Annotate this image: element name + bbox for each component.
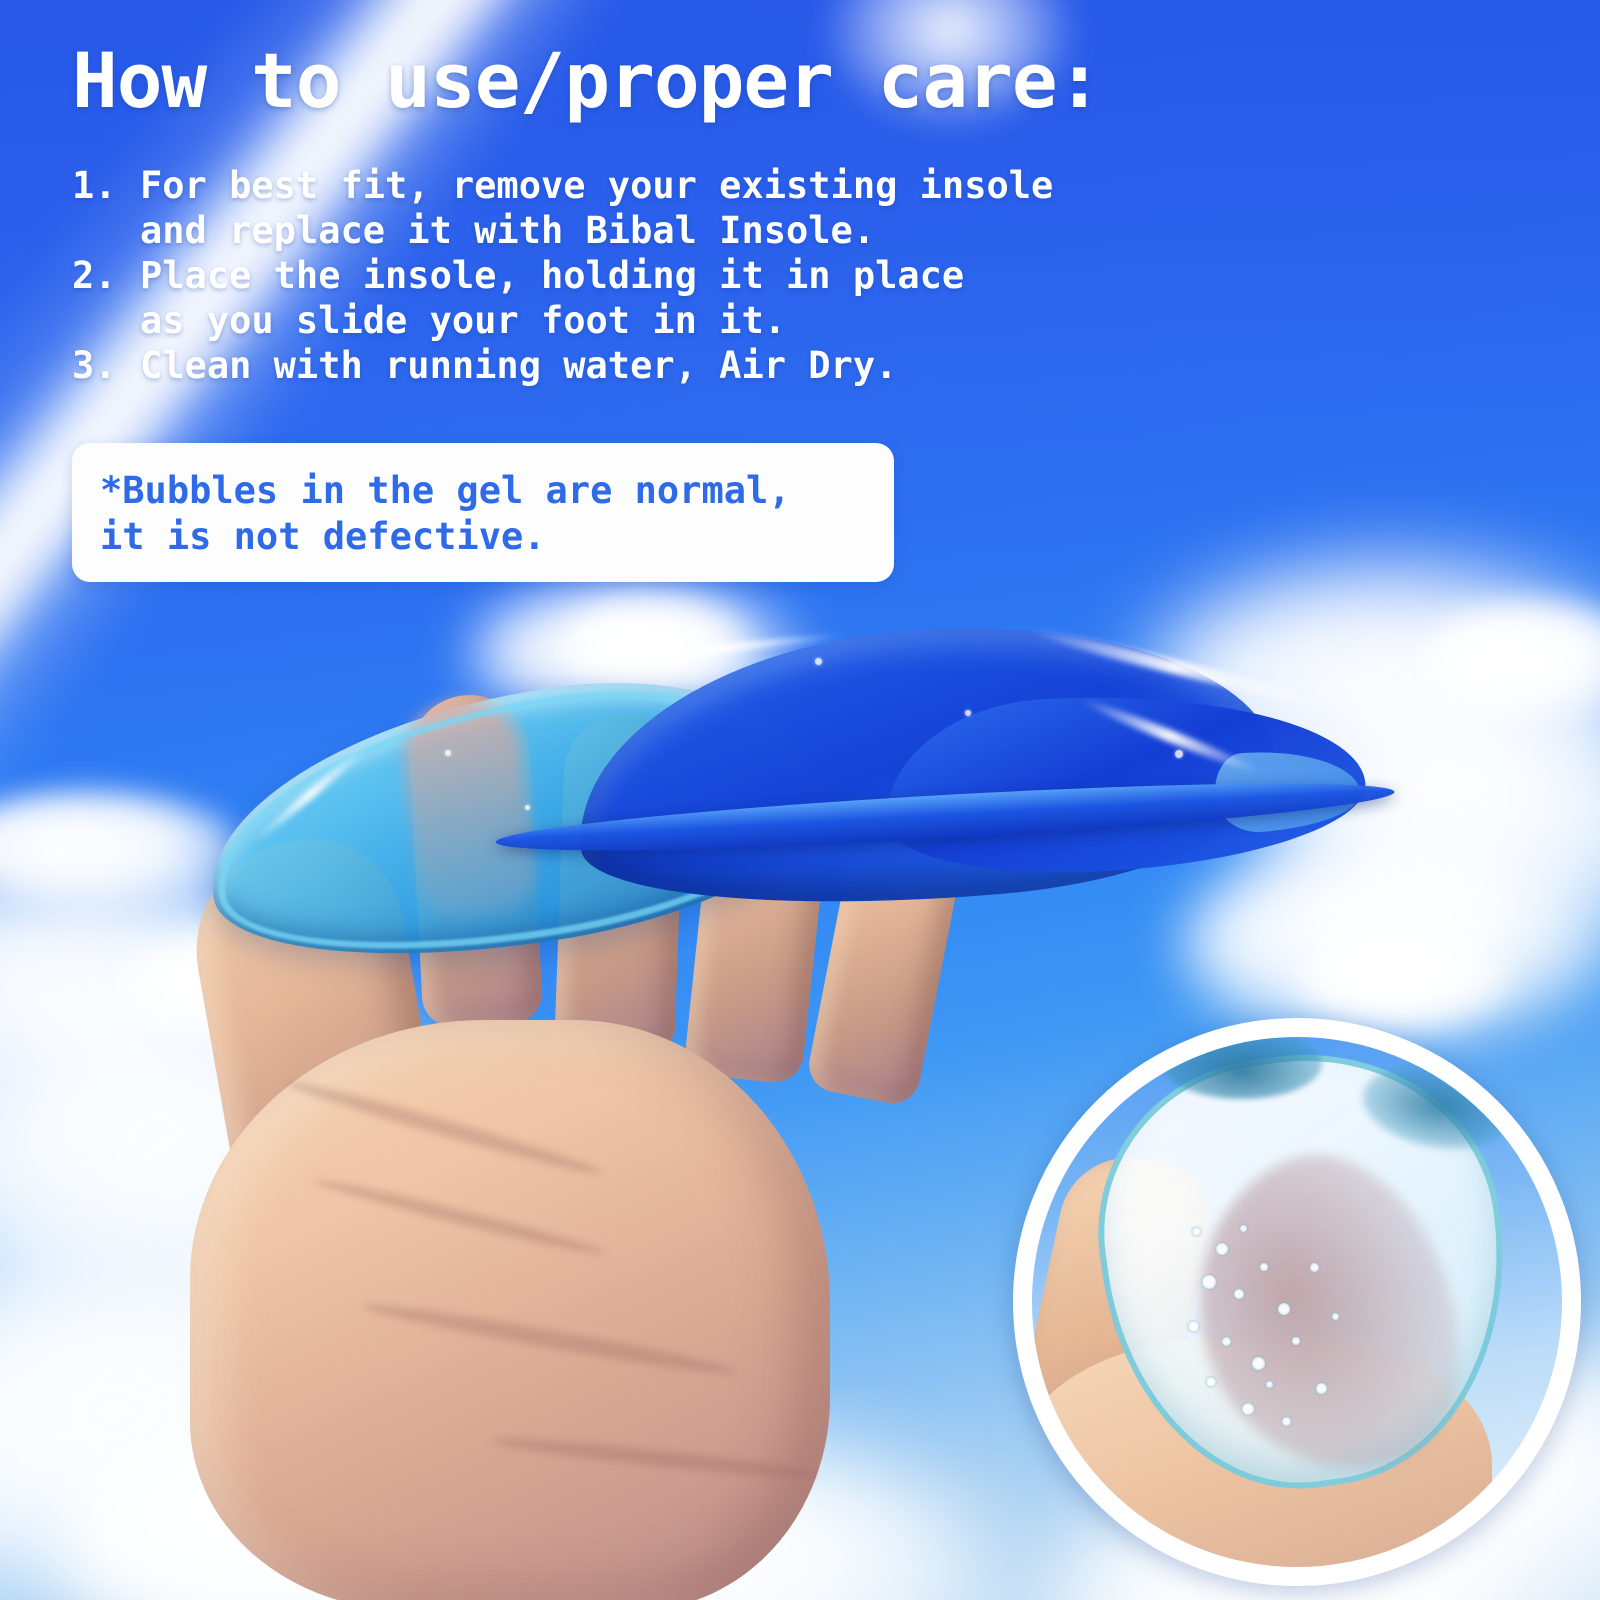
bubbles-note-callout: *Bubbles in the gel are normal, it is no…	[72, 443, 894, 582]
list-item: 1. For best fit, remove your existing in…	[72, 163, 1053, 253]
gel-bubble	[445, 750, 451, 756]
step-number: 3.	[72, 343, 140, 388]
list-item: 3. Clean with running water, Air Dry.	[72, 343, 1053, 388]
gel-bubble	[965, 710, 971, 716]
step-number: 2.	[72, 253, 140, 298]
inset-gel-shadow	[1162, 1029, 1322, 1099]
instructions-overlay: How to use/proper care: 1. For best fit,…	[0, 0, 1600, 620]
bubble-detail-inset	[1013, 1018, 1581, 1586]
steps-list: 1. For best fit, remove your existing in…	[72, 163, 1053, 388]
step-text: Clean with running water, Air Dry.	[140, 343, 897, 388]
infographic-canvas: How to use/proper care: 1. For best fit,…	[0, 0, 1600, 1600]
step-number: 1.	[72, 163, 140, 208]
list-item: 2. Place the insole, holding it in place…	[72, 253, 1053, 343]
gel-insole-product	[195, 600, 1355, 960]
inset-bubble-cluster	[1182, 1217, 1362, 1447]
palm	[190, 1020, 830, 1600]
gel-bubble	[815, 658, 822, 665]
gel-bubble	[525, 805, 530, 810]
gel-bubble	[1175, 750, 1183, 758]
page-title: How to use/proper care:	[72, 36, 1101, 125]
step-text: For best fit, remove your existing insol…	[140, 163, 1053, 253]
bubbles-note-text: *Bubbles in the gel are normal, it is no…	[100, 468, 866, 560]
step-text: Place the insole, holding it in place as…	[140, 253, 964, 343]
